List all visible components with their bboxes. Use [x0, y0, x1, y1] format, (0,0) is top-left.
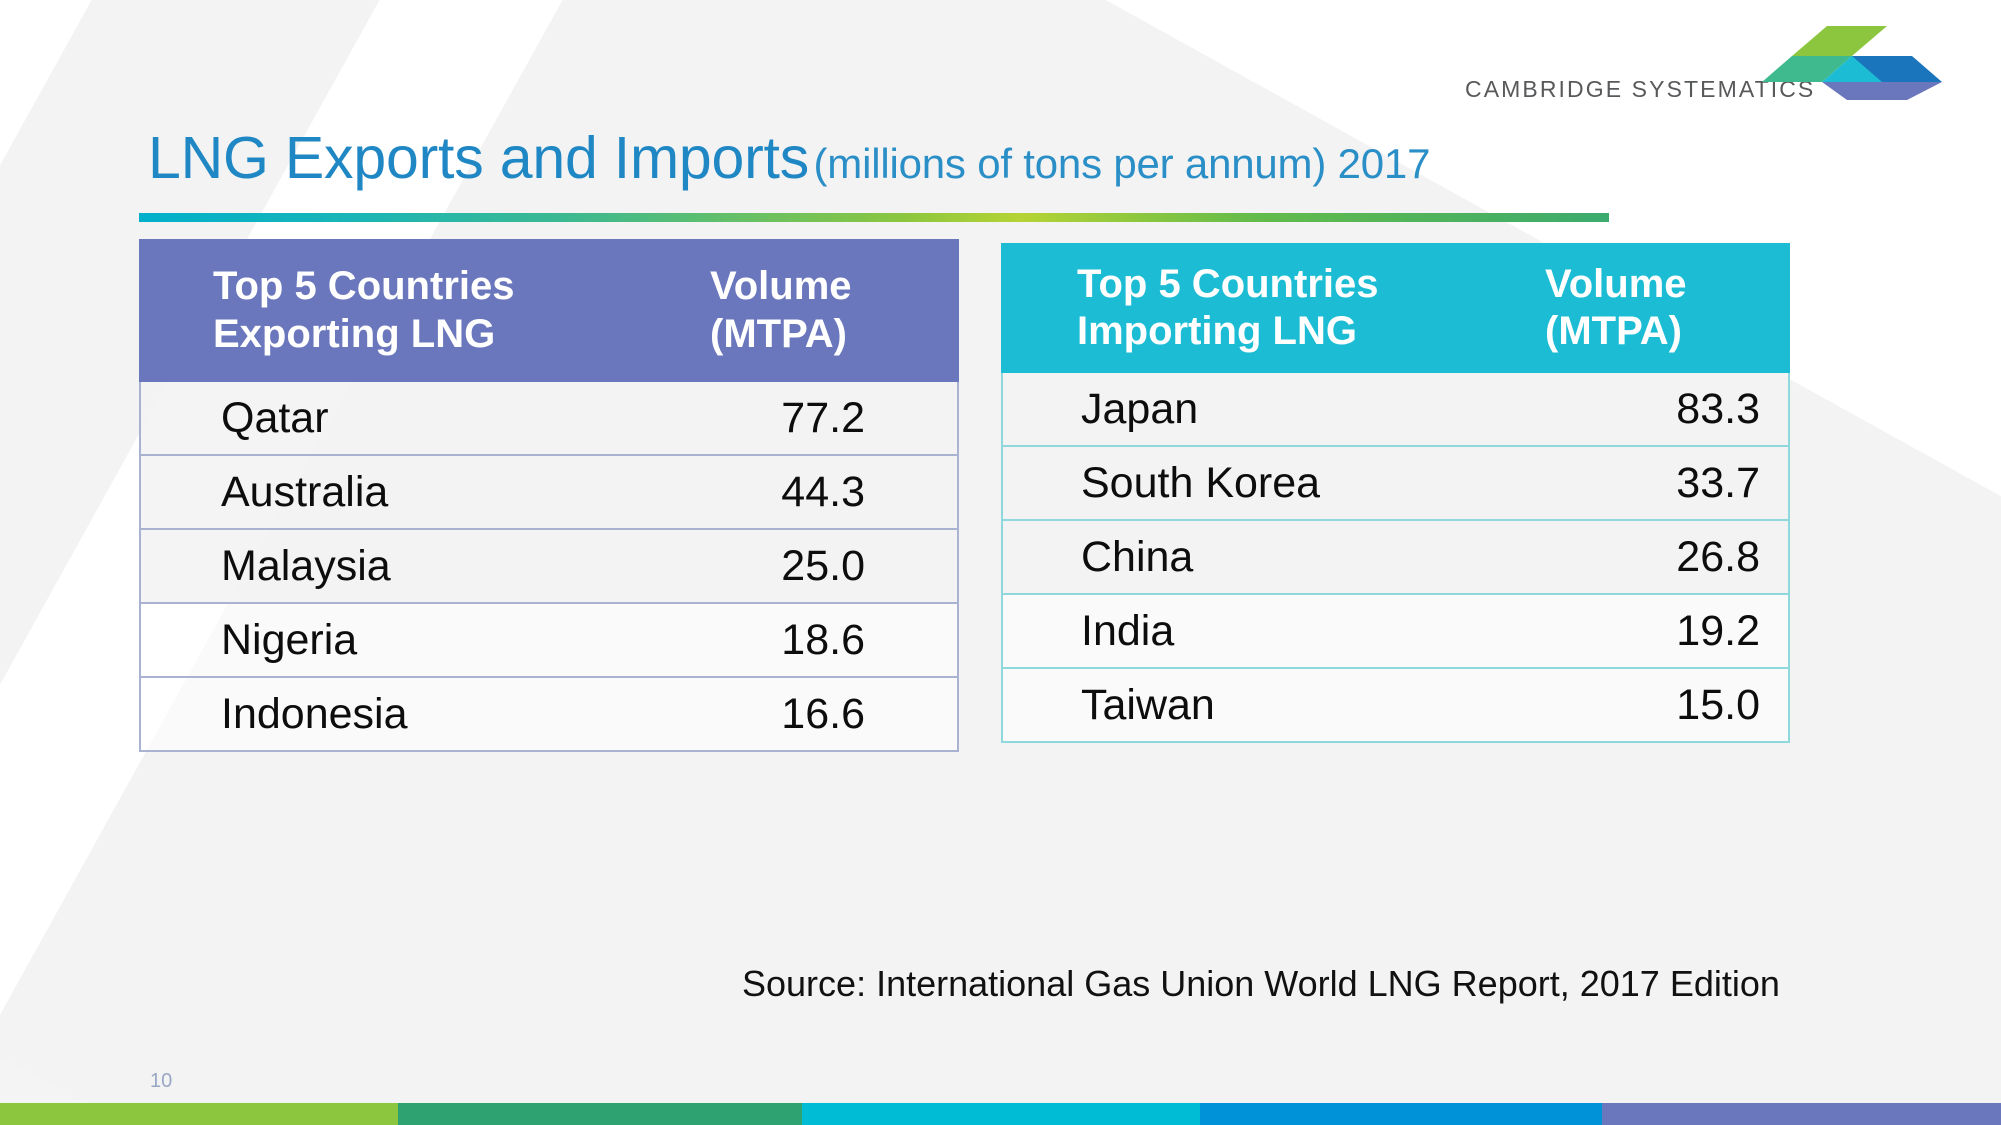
table-row: South Korea 33.7: [1001, 447, 1790, 521]
exports-header-country: Top 5 Countries Exporting LNG: [139, 263, 710, 357]
exports-header-country-line1: Top 5 Countries: [213, 263, 710, 310]
exports-header-volume-line1: Volume: [710, 263, 959, 310]
imports-volume-cell: 15.0: [1549, 681, 1788, 730]
imports-country-cell: Japan: [1003, 385, 1549, 434]
imports-table-header: Top 5 Countries Importing LNG Volume (MT…: [1001, 243, 1790, 373]
exports-volume-cell: 18.6: [718, 616, 957, 665]
page-title-subtitle: (millions of tons per annum) 2017: [814, 140, 1431, 187]
page-title: LNG Exports and Imports (millions of ton…: [148, 124, 1430, 192]
exports-country-cell: Nigeria: [141, 616, 718, 665]
exports-header-country-line2: Exporting LNG: [213, 311, 710, 358]
table-row: Taiwan 15.0: [1001, 669, 1790, 743]
exports-volume-cell: 16.6: [718, 690, 957, 739]
company-logo: CAMBRIDGE SYSTEMATICS: [1465, 24, 1965, 102]
imports-volume-cell: 19.2: [1549, 607, 1788, 656]
exports-country-cell: Qatar: [141, 394, 718, 443]
imports-country-cell: India: [1003, 607, 1549, 656]
exports-country-cell: Indonesia: [141, 690, 718, 739]
bar-segment-blue: [1200, 1103, 1602, 1125]
imports-header-volume-line2: (MTPA): [1545, 308, 1790, 355]
imports-header-volume-line1: Volume: [1545, 261, 1790, 308]
bar-segment-green: [0, 1103, 398, 1125]
imports-header-country-line1: Top 5 Countries: [1077, 261, 1545, 308]
logo-mark-icon: [1727, 24, 1965, 102]
exports-volume-cell: 25.0: [718, 542, 957, 591]
table-row: Malaysia 25.0: [139, 530, 959, 604]
table-row: Australia 44.3: [139, 456, 959, 530]
table-row: China 26.8: [1001, 521, 1790, 595]
imports-header-country: Top 5 Countries Importing LNG: [1001, 261, 1545, 355]
imports-country-cell: China: [1003, 533, 1549, 582]
imports-volume-cell: 26.8: [1549, 533, 1788, 582]
imports-header-volume: Volume (MTPA): [1545, 261, 1790, 355]
exports-table-header: Top 5 Countries Exporting LNG Volume (MT…: [139, 239, 959, 382]
imports-country-cell: Taiwan: [1003, 681, 1549, 730]
table-row: India 19.2: [1001, 595, 1790, 669]
exports-volume-cell: 77.2: [718, 394, 957, 443]
bottom-color-bar: [0, 1103, 2001, 1125]
source-caption: Source: International Gas Union World LN…: [742, 963, 1780, 1005]
bar-segment-cyan: [802, 1103, 1200, 1125]
exports-country-cell: Australia: [141, 468, 718, 517]
page-number: 10: [150, 1070, 172, 1093]
imports-table: Top 5 Countries Importing LNG Volume (MT…: [1001, 243, 1790, 743]
exports-country-cell: Malaysia: [141, 542, 718, 591]
title-divider-rule: [139, 213, 1609, 222]
imports-volume-cell: 83.3: [1549, 385, 1788, 434]
bar-segment-teal: [398, 1103, 802, 1125]
exports-table: Top 5 Countries Exporting LNG Volume (MT…: [139, 239, 959, 752]
table-row: Indonesia 16.6: [139, 678, 959, 752]
slide: CAMBRIDGE SYSTEMATICS LNG Exports and Im…: [0, 0, 2001, 1125]
bar-segment-purple: [1602, 1103, 2001, 1125]
imports-country-cell: South Korea: [1003, 459, 1549, 508]
table-row: Nigeria 18.6: [139, 604, 959, 678]
exports-volume-cell: 44.3: [718, 468, 957, 517]
table-row: Qatar 77.2: [139, 382, 959, 456]
imports-volume-cell: 33.7: [1549, 459, 1788, 508]
table-row: Japan 83.3: [1001, 373, 1790, 447]
exports-header-volume-line2: (MTPA): [710, 311, 959, 358]
imports-header-country-line2: Importing LNG: [1077, 308, 1545, 355]
page-title-main: LNG Exports and Imports: [148, 125, 809, 191]
exports-header-volume: Volume (MTPA): [710, 263, 959, 357]
